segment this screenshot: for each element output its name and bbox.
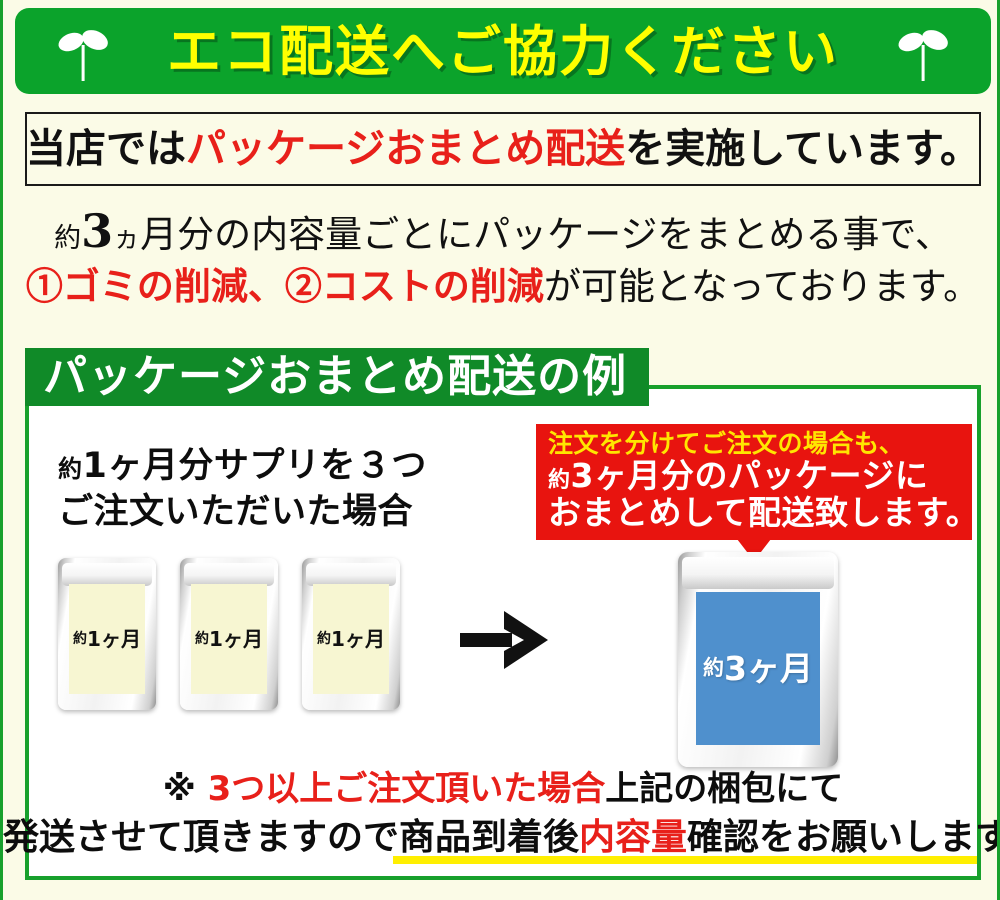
pouch-label-approx: 約 (317, 632, 331, 646)
pouch-label-text: 1ヶ月 (87, 629, 141, 649)
pouch-label: 約1ヶ月 (69, 584, 145, 694)
pouch-label-text: 1ヶ月 (209, 629, 263, 649)
example-section-title: パッケージおまとめ配送の例 (43, 355, 627, 399)
supplement-pouch-large: 約3ヶ月 (678, 552, 838, 767)
callout-line-2: 約3ヶ月分のパッケージに (548, 458, 962, 495)
pouch-label: 約3ヶ月 (696, 592, 820, 745)
callout-line-2-text: 3ヶ月分のパッケージに (571, 456, 929, 495)
example-left-caption-line-2: ご注文いただいた場合 (58, 489, 427, 535)
note-line-2-prefix: 発送させて頂きますので商品到着後 (3, 817, 579, 858)
note-line-2-suffix: 確認をお願いします。 (687, 817, 1000, 858)
description-line-2: ①ゴミの削減、②コストの削減が可能となっております。 (3, 268, 1000, 305)
pouch-label-text: 3ヶ月 (724, 652, 813, 685)
example-left-caption: 約1ヶ月分サプリを３つ ご注文いただいた場合 (58, 443, 427, 535)
right-arrow-icon (458, 605, 553, 675)
pouch-label: 約1ヶ月 (313, 584, 389, 694)
callout-line-3: おまとめして配送致します。 (548, 495, 962, 532)
merge-callout: 注文を分けてご注文の場合も、 約3ヶ月分のパッケージに おまとめして配送致します… (536, 424, 972, 540)
pouch-label: 約1ヶ月 (191, 584, 267, 694)
note-line-1: ※ 3つ以上ご注文頂いた場合上記の梱包にて (3, 772, 1000, 806)
note-underline-highlight (393, 856, 977, 864)
statement-text: 当店ではパッケージおまとめ配送を実施しています。 (26, 129, 980, 169)
pouch-label-approx: 約 (73, 632, 87, 646)
supplement-pouch-small: 約1ヶ月 (302, 558, 400, 710)
example-left-caption-line-1: 約1ヶ月分サプリを３つ (58, 443, 427, 489)
description-line-1: 約3ヵ月分の内容量ごとにパッケージをまとめる事で、 (3, 208, 1000, 254)
description-line-2-suffix: が可能となっております。 (544, 265, 980, 308)
note-line-2-highlight: 内容量 (579, 817, 687, 858)
example-left-caption-line-1-text: 1ヶ月分サプリを３つ (83, 446, 427, 486)
example-left-caption-approx: 約 (58, 455, 83, 483)
note-line-1-suffix: 上記の梱包にて (605, 769, 843, 809)
pouch-label-text: 1ヶ月 (331, 629, 385, 649)
example-section-tab: パッケージおまとめ配送の例 (25, 348, 649, 406)
sprout-icon (895, 20, 951, 82)
note-mark: ※ (163, 769, 208, 809)
pouch-label-approx: 約 (195, 632, 209, 646)
callout-approx: 約 (548, 468, 571, 493)
statement-highlight: パッケージおまとめ配送 (186, 125, 625, 172)
statement-suffix: を実施しています。 (625, 125, 980, 172)
description-month-unit: ヵ (113, 223, 140, 254)
supplement-pouch-small: 約1ヶ月 (58, 558, 156, 710)
callout-line-1: 注文を分けてご注文の場合も、 (548, 430, 962, 458)
supplement-pouch-small: 約1ヶ月 (180, 558, 278, 710)
promo-banner-page: エコ配送へご協力ください 当店ではパッケージおまとめ配送を実施しています。 約3… (0, 0, 1000, 900)
description-month-count: 3 (81, 204, 113, 258)
note-line-1-highlight: 3つ以上ご注文頂いた場合 (208, 769, 606, 809)
pouch-label-approx: 約 (703, 658, 724, 679)
sprout-icon (55, 20, 111, 82)
description-approx-prefix: 約 (54, 223, 81, 254)
description-line-1-rest: 月分の内容量ごとにパッケージをまとめる事で、 (140, 213, 952, 256)
statement-box: 当店ではパッケージおまとめ配送を実施しています。 (25, 112, 981, 186)
header-banner: エコ配送へご協力ください (15, 8, 991, 94)
description-benefits: ①ゴミの削減、②コストの削減 (26, 264, 544, 308)
note-line-2: 発送させて頂きますので商品到着後内容量確認をお願いします。 (3, 820, 1000, 856)
statement-prefix: 当店では (26, 125, 186, 172)
page-title: エコ配送へご協力ください (167, 24, 839, 78)
